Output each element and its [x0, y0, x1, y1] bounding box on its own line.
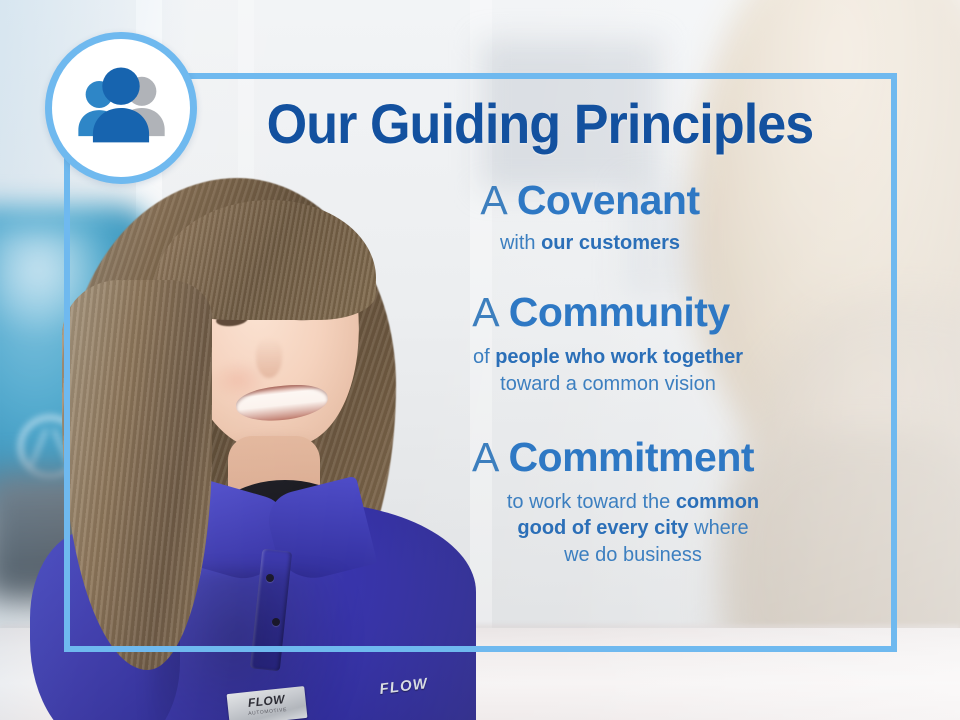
principle-title: A Community — [300, 290, 880, 336]
principle-commitment: A Commitment to work toward the common g… — [300, 435, 880, 568]
principle-subline: of people who work together — [336, 344, 880, 370]
principles-list: A Covenant with our customers A Communit… — [300, 178, 880, 582]
principle-subtext: with our customers — [300, 230, 880, 256]
nose — [256, 338, 282, 378]
principle-subtext: of people who work together toward a com… — [300, 344, 880, 397]
principle-title: A Covenant — [300, 178, 880, 224]
principle-subtext: to work toward the common good of every … — [300, 489, 880, 568]
principle-article: A — [480, 177, 516, 223]
principle-community: A Community of people who work together … — [300, 290, 880, 397]
people-badge — [45, 32, 197, 184]
principle-covenant: A Covenant with our customers — [300, 178, 880, 256]
principle-keyword: Commitment — [508, 434, 754, 480]
guiding-principles-graphic: FLOW AUTOMOTIVE FLOW — [0, 0, 960, 720]
principle-subline: good of every city where — [386, 515, 880, 541]
principle-article: A — [472, 289, 508, 335]
principle-subline: with our customers — [300, 230, 880, 256]
principle-article: A — [472, 434, 508, 480]
page-title: Our Guiding Principles — [233, 96, 847, 152]
principle-title: A Commitment — [300, 435, 880, 481]
principle-subline: we do business — [386, 542, 880, 568]
people-group-icon — [69, 56, 173, 160]
principle-keyword: Covenant — [517, 177, 700, 223]
principle-keyword: Community — [509, 289, 730, 335]
principle-subline: toward a common vision — [336, 371, 880, 397]
principle-subline: to work toward the common — [386, 489, 880, 515]
